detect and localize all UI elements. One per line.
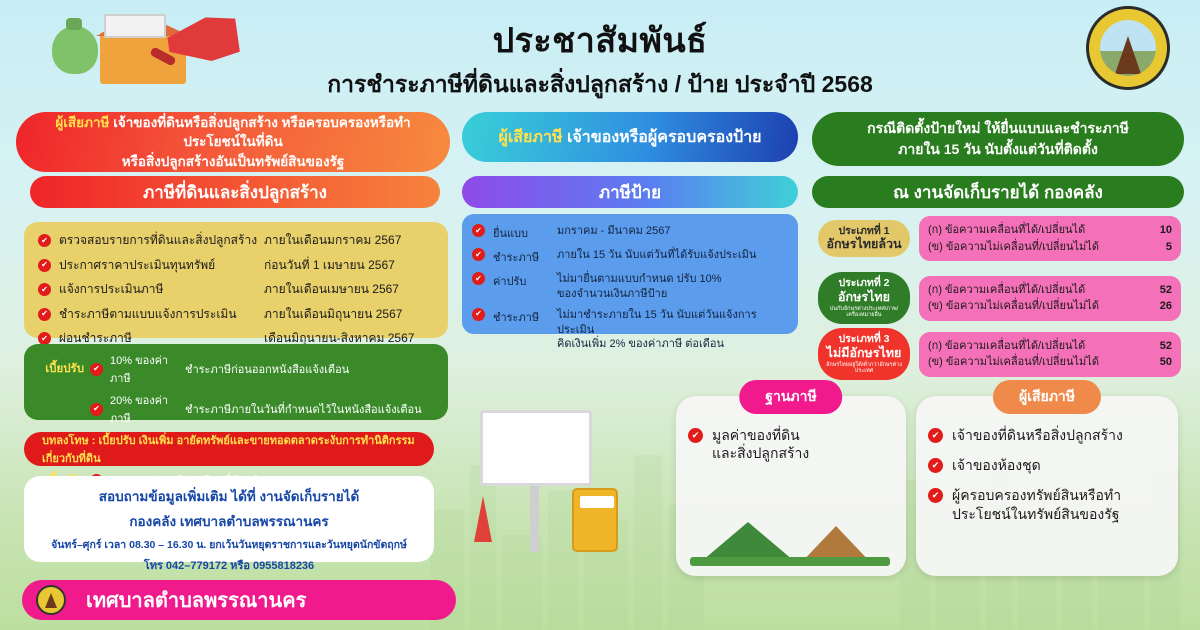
rate-category-2-line1: ประเภทที่ 2 [822, 277, 906, 290]
sign-detail-value-2: คิดเงินเพิ่ม 2% ของค่าภาษี ต่อเดือน [557, 338, 724, 350]
check-icon [928, 428, 943, 443]
rate-category-2-note: ปนกับอักษรต่างประเทศ/ภาพ/เครื่องหมายอื่น [822, 306, 906, 320]
list-item: เจ้าของที่ดินหรือสิ่งปลูกสร้าง [928, 426, 1164, 444]
banner-land-taxpayer-highlight: ผู้เสียภาษี [55, 115, 109, 130]
banner-new-sign-line1: กรณีติดตั้งป้ายใหม่ ให้ยื่นแบบและชำระภาษ… [867, 118, 1129, 139]
card-tax-base-title: ฐานภาษี [739, 380, 842, 414]
sign-rate-row-1: ประเภทที่ 1 อักษรไทยล้วน (ก) ข้อความเคลื… [818, 216, 1181, 261]
rate-text: (ก) ข้อความเคลื่อนที่ได้/เปลี่ยนได้ [928, 222, 1138, 239]
card-taxpayer: ผู้เสียภาษี เจ้าของที่ดินหรือสิ่งปลูกสร้… [916, 396, 1178, 576]
rate-category-1: ประเภทที่ 1 อักษรไทยล้วน [818, 220, 910, 258]
check-icon [38, 234, 51, 247]
banner-sign-taxpayer: ผู้เสียภาษี เจ้าของหรือผู้ครอบครองป้าย [462, 112, 798, 162]
penalty-percent: 20% ของค่าภาษี [103, 391, 185, 427]
taxpayer-item: ผู้ครอบครองทรัพย์สินหรือทำ ประโยชน์ในทรั… [943, 486, 1121, 522]
rate-value: 52 [1138, 338, 1172, 355]
banner-land-taxpayer: ผู้เสียภาษี เจ้าของที่ดินหรือสิ่งปลูกสร้… [16, 112, 450, 172]
taxpayer-item: เจ้าของห้องชุด [943, 456, 1041, 474]
contact-hours: จันทร์–ศุกร์ เวลา 08.30 – 16.30 น. ยกเว้… [32, 536, 426, 553]
rate-category-3: ประเภทที่ 3 ไม่มีอักษรไทย อักษรไทยอยู่ใต… [818, 328, 910, 380]
banner-sign-taxpayer-text: เจ้าของหรือผู้ครอบครองป้าย [563, 129, 762, 146]
money-bag-icon [52, 26, 98, 74]
rate-text: (ก) ข้อความเคลื่อนที่ได้/เปลี่ยนได้ [928, 282, 1138, 299]
rate-value: 50 [1138, 354, 1172, 371]
schedule-label: แจ้งการประเมินภาษี [51, 280, 264, 299]
sign-detail-value: ไม่มายื่นตามแบบกำหนด ปรับ 10% [557, 273, 722, 285]
schedule-label: ประกาศราคาประเมินทุนทรัพย์ [51, 256, 264, 275]
list-item: ชำระภาษีตามแบบแจ้งการประเมิน ภายในเดือนม… [38, 305, 432, 324]
section-bar-office: ณ งานจัดเก็บรายได้ กองคลัง [812, 176, 1184, 208]
calculator-icon [572, 488, 618, 552]
rate-items-2: (ก) ข้อความเคลื่อนที่ได้/เปลี่ยนได้ 52 (… [919, 276, 1181, 321]
contact-line-2: กองคลัง เทศบาลตำบลพรรณานคร [32, 510, 426, 532]
table-row: (ข) ข้อความไม่เคลื่อนที่/เปลี่ยนไม่ได้ 5 [928, 239, 1172, 256]
list-item: ประกาศราคาประเมินทุนทรัพย์ ก่อนวันที่ 1 … [38, 256, 432, 275]
land-tax-schedule-list: ตรวจสอบรายการที่ดินและสิ่งปลูกสร้าง ภายใ… [24, 222, 448, 338]
rate-text: (ข) ข้อความไม่เคลื่อนที่/เปลี่ยนไม่ได้ [928, 354, 1138, 371]
rate-category-3-line1: ประเภทที่ 3 [822, 333, 906, 346]
penalty-tag: เบี้ยปรับ [32, 360, 90, 378]
check-icon [90, 363, 103, 376]
rate-text: (ข) ข้อความไม่เคลื่อนที่/เปลี่ยนไม่ได้ [928, 298, 1138, 315]
schedule-value: ภายในเดือนมกราคม 2567 [264, 231, 432, 250]
sign-detail-label: ยื่นแบบ [485, 224, 557, 242]
banner-sign-taxpayer-highlight: ผู้เสียภาษี [498, 129, 562, 146]
footer-municipality-name: เทศบาลตำบลพรรณานคร [66, 584, 306, 616]
table-row: (ข) ข้อความไม่เคลื่อนที่/เปลี่ยนไม่ได้ 5… [928, 354, 1172, 371]
rate-category-1-line1: ประเภทที่ 1 [822, 225, 906, 238]
list-item: แจ้งการประเมินภาษี ภายในเดือนเมษายน 2567 [38, 280, 432, 299]
penalty-rate-box: เบี้ยปรับ 10% ของค่าภาษี ชำระภาษีก่อนออก… [24, 344, 448, 420]
section-bar-sign-tax: ภาษีป้าย [462, 176, 798, 208]
rate-items-3: (ก) ข้อความเคลื่อนที่ได้/เปลี่ยนได้ 52 (… [919, 332, 1181, 377]
list-item: ตรวจสอบรายการที่ดินและสิ่งปลูกสร้าง ภายใ… [38, 231, 432, 250]
card-taxpayer-title: ผู้เสียภาษี [993, 380, 1101, 414]
sign-detail-label: ชำระภาษี [485, 248, 557, 266]
check-icon [928, 458, 943, 473]
rate-category-1-line2: อักษรไทยล้วน [822, 237, 906, 252]
check-icon [472, 308, 485, 321]
sign-detail-label: ชำระภาษี [485, 308, 557, 326]
billboard-illustration [480, 410, 610, 560]
penalty-description: ชำระภาษีก่อนออกหนังสือแจ้งเตือน [185, 360, 438, 378]
check-icon [38, 259, 51, 272]
schedule-value: ภายในเดือนมิถุนายน 2567 [264, 305, 432, 324]
footer-bar: เทศบาลตำบลพรรณานคร [22, 580, 456, 620]
growth-arrow-icon [474, 496, 492, 542]
contact-card: สอบถามข้อมูลเพิ่มเติม ได้ที่ งานจัดเก็บร… [24, 476, 434, 562]
rate-category-3-note: อักษรไทยอยู่ใต้/ต่ำกว่าอักษรต่างประเทศ [822, 362, 906, 376]
table-row: (ข) ข้อความไม่เคลื่อนที่/เปลี่ยนไม่ได้ 2… [928, 298, 1172, 315]
list-item: ค่าปรับ ไม่มายื่นตามแบบกำหนด ปรับ 10% ขอ… [472, 272, 786, 302]
table-row: (ก) ข้อความเคลื่อนที่ได้/เปลี่ยนได้ 52 [928, 282, 1172, 299]
check-icon [688, 428, 703, 443]
list-item: มูลค่าของที่ดิน และสิ่งปลูกสร้าง [688, 426, 892, 462]
sign-detail-value: ภายใน 15 วัน นับแต่วันที่ได้รับแจ้งประเม… [557, 249, 756, 261]
list-item: เจ้าของห้องชุด [928, 456, 1164, 474]
section-bar-land-tax: ภาษีที่ดินและสิ่งปลูกสร้าง [30, 176, 440, 208]
rate-text: (ข) ข้อความไม่เคลื่อนที่/เปลี่ยนไม่ได้ [928, 239, 1138, 256]
banner-new-sign-line2: ภายใน 15 วัน นับตั้งแต่วันที่ติดตั้ง [898, 139, 1098, 160]
sign-rate-row-3: ประเภทที่ 3 ไม่มีอักษรไทย อักษรไทยอยู่ใต… [818, 328, 1181, 380]
rate-category-3-line2: ไม่มีอักษรไทย [822, 346, 906, 361]
taxpayer-item: เจ้าของที่ดินหรือสิ่งปลูกสร้าง [943, 426, 1123, 444]
check-icon [90, 403, 103, 416]
sign-detail-value: ไม่มาชำระภายใน 15 วัน นับแต่วันแจ้งการปร… [557, 309, 757, 336]
schedule-value: ภายในเดือนเมษายน 2567 [264, 280, 432, 299]
card-tax-base: ฐานภาษี มูลค่าของที่ดิน และสิ่งปลูกสร้าง [676, 396, 906, 576]
banner-new-sign-rule: กรณีติดตั้งป้ายใหม่ ให้ยื่นแบบและชำระภาษ… [812, 112, 1184, 166]
check-icon [38, 283, 51, 296]
check-icon [472, 272, 485, 285]
table-row: (ก) ข้อความเคลื่อนที่ได้/เปลี่ยนได้ 52 [928, 338, 1172, 355]
sign-detail-value: มกราคม - มีนาคม 2567 [557, 225, 670, 237]
list-item: ยื่นแบบ มกราคม - มีนาคม 2567 [472, 224, 786, 242]
tax-base-item: มูลค่าของที่ดิน และสิ่งปลูกสร้าง [703, 426, 809, 462]
sign-detail-value-2: ของจำนวนเงินภาษีป้าย [557, 288, 667, 300]
list-item: เบี้ยปรับ 10% ของค่าภาษี ชำระภาษีก่อนออก… [32, 351, 438, 387]
sign-rate-row-2: ประเภทที่ 2 อักษรไทย ปนกับอักษรต่างประเท… [818, 272, 1181, 324]
municipality-seal-icon [1086, 6, 1170, 90]
list-item: ชำระภาษี ไม่มาชำระภายใน 15 วัน นับแต่วัน… [472, 308, 786, 353]
penalty-description: ชำระภาษีภายในวันที่กำหนดไว้ในหนังสือแจ้ง… [185, 400, 438, 418]
sign-tax-detail-box: ยื่นแบบ มกราคม - มีนาคม 2567 ชำระภาษี ภา… [462, 214, 798, 334]
rate-items-1: (ก) ข้อความเคลื่อนที่ได้/เปลี่ยนได้ 10 (… [919, 216, 1181, 261]
list-item: ชำระภาษี ภายใน 15 วัน นับแต่วันที่ได้รับ… [472, 248, 786, 266]
rate-value: 52 [1138, 282, 1172, 299]
rate-category-2-line2: อักษรไทย [822, 290, 906, 305]
rate-category-2: ประเภทที่ 2 อักษรไทย ปนกับอักษรต่างประเท… [818, 272, 910, 324]
landscape-illustration [690, 514, 890, 566]
banner-land-taxpayer-text: เจ้าของที่ดินหรือสิ่งปลูกสร้าง หรือครอบค… [109, 115, 410, 150]
schedule-value: ก่อนวันที่ 1 เมษายน 2567 [264, 256, 432, 275]
page-header: ประชาสัมพันธ์ การชำระภาษีที่ดินและสิ่งปล… [0, 8, 1200, 103]
rate-value: 10 [1138, 222, 1172, 239]
check-icon [928, 488, 943, 503]
schedule-label: ชำระภาษีตามแบบแจ้งการประเมิน [51, 305, 264, 324]
check-icon [38, 308, 51, 321]
schedule-label: ตรวจสอบรายการที่ดินและสิ่งปลูกสร้าง [51, 231, 264, 250]
list-item: ผู้ครอบครองทรัพย์สินหรือทำ ประโยชน์ในทรั… [928, 486, 1164, 522]
penalty-warning-banner: บทลงโทษ : เบี้ยปรับ เงินเพิ่ม อายัดทรัพย… [24, 432, 434, 466]
banner-land-taxpayer-line2: หรือสิ่งปลูกสร้างอันเป็นทรัพย์สินของรัฐ [122, 152, 345, 172]
footer-seal-icon [36, 585, 66, 615]
list-item: 20% ของค่าภาษี ชำระภาษีภายในวันที่กำหนดไ… [32, 391, 438, 427]
rate-value: 5 [1138, 239, 1172, 256]
penalty-percent: 10% ของค่าภาษี [103, 351, 185, 387]
contact-phone: โทร 042–779172 หรือ 0955818236 [32, 556, 426, 574]
billboard-icon [104, 14, 166, 38]
rate-value: 26 [1138, 298, 1172, 315]
check-icon [472, 224, 485, 237]
rate-text: (ก) ข้อความเคลื่อนที่ได้/เปลี่ยนได้ [928, 338, 1138, 355]
table-row: (ก) ข้อความเคลื่อนที่ได้/เปลี่ยนได้ 10 [928, 222, 1172, 239]
check-icon [472, 248, 485, 261]
contact-line-1: สอบถามข้อมูลเพิ่มเติม ได้ที่ งานจัดเก็บร… [32, 485, 426, 507]
sign-detail-label: ค่าปรับ [485, 272, 557, 290]
